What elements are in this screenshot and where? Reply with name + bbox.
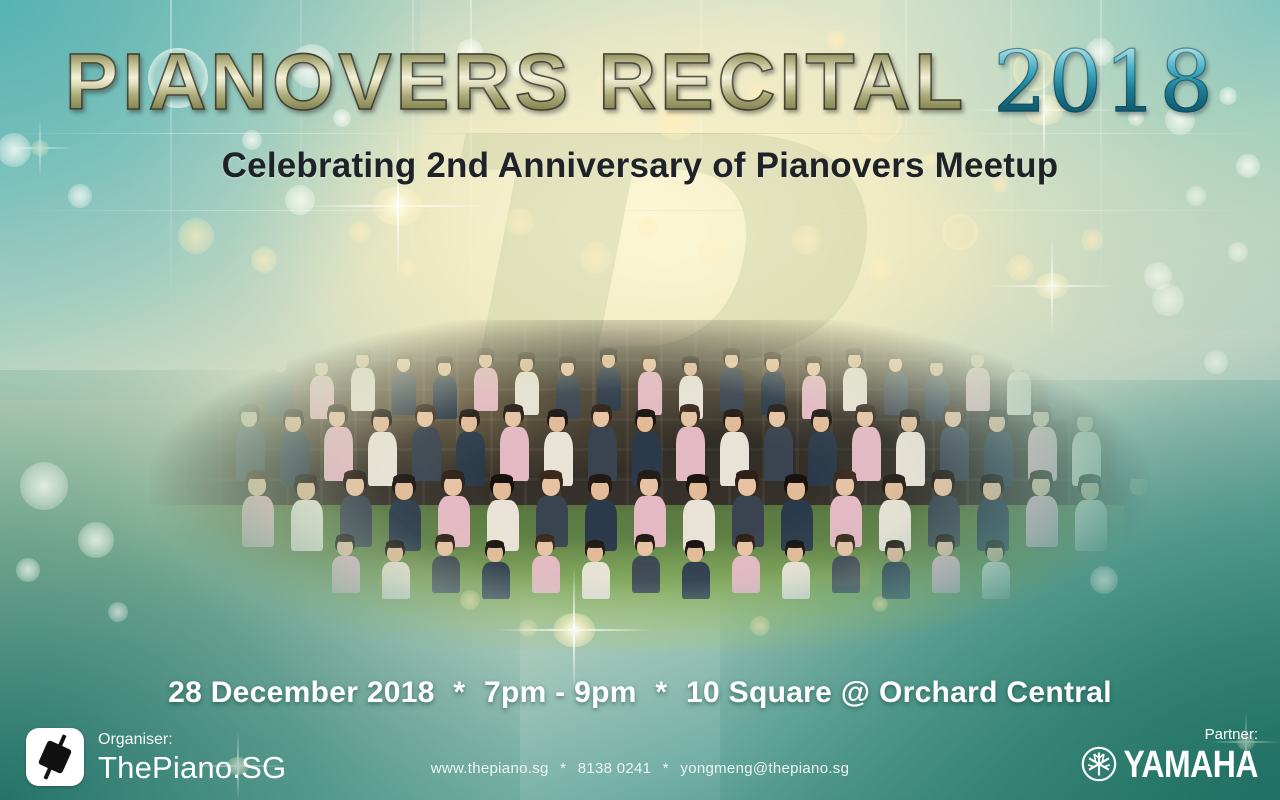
group-photo [150,320,1150,650]
photo-person [1075,474,1105,551]
contact-separator-1: * [553,760,573,777]
photo-person [291,474,321,551]
event-venue: 10 Square @ Orchard Central [686,676,1112,709]
organiser-block: Organiser: ThePiano.SG [26,728,286,786]
yamaha-wordmark: YAMAHA [1124,747,1259,781]
event-details: 28 December 2018 * 7pm - 9pm * 10 Square… [0,676,1280,710]
photo-person [720,348,743,411]
partner-block: Partner: YAMAHA [1081,726,1259,782]
photo-person [843,348,866,411]
piano-hammer-icon [26,728,84,786]
photo-person [382,540,408,599]
photo-person [332,534,358,593]
contact-phone[interactable]: 8138 0241 [578,760,652,777]
photo-person [782,540,808,599]
photo-person [1026,470,1056,547]
photo-person [588,404,615,481]
photo-person [582,540,608,599]
photo-person [474,348,497,411]
photo-person [884,352,907,415]
photo-person [982,540,1008,599]
poster-canvas: R PIANOVERS RECITAL 2018 Celebrating 2nd… [0,0,1280,800]
organiser-label: Organiser: [98,732,286,748]
yamaha-tuning-forks-icon [1081,746,1117,782]
event-time: 7pm - 9pm [484,676,637,709]
photo-person [882,540,908,599]
photo-person [412,404,439,481]
title-main-text: PIANOVERS RECITAL [65,42,967,122]
poster-title: PIANOVERS RECITAL 2018 [0,36,1280,128]
photo-person [682,540,708,599]
photo-person [764,404,791,481]
photo-person [597,348,620,411]
photo-person [500,404,527,481]
photo-person [1007,352,1030,415]
event-date: 28 December 2018 [168,676,435,709]
contact-email[interactable]: yongmeng@thepiano.sg [680,760,849,777]
photo-person [242,470,272,547]
photo-person [732,534,758,593]
photo-person [832,534,858,593]
contact-website[interactable]: www.thepiano.sg [431,760,549,777]
photo-person [482,540,508,599]
event-separator-2: * [645,676,677,709]
photo-person [676,404,703,481]
divider-line-upper [0,133,1280,134]
yamaha-logo: YAMAHA [1081,746,1259,782]
photo-person [1124,470,1154,547]
poster-subtitle: Celebrating 2nd Anniversary of Pianovers… [0,146,1280,186]
photo-person [269,352,292,415]
partner-label: Partner: [1081,726,1259,743]
photo-person [1089,348,1112,411]
event-separator-1: * [443,676,475,709]
divider-line-lower [0,210,1280,211]
photo-person [228,348,251,411]
photo-person [351,348,374,411]
photo-person [632,534,658,593]
photo-person [638,352,661,415]
contact-separator-2: * [656,760,676,777]
photo-person [966,348,989,411]
photo-person [532,534,558,593]
photo-person [932,534,958,593]
photo-person [432,534,458,593]
title-year-text: 2018 [993,40,1215,124]
